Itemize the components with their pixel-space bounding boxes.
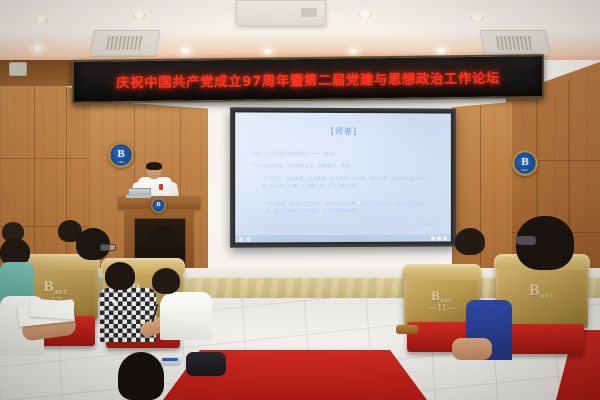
projection-screen: 【师者】 “师者，所以传道授业解惑也。” ——《师说》 “为ião基继绝学，为万… bbox=[235, 112, 451, 242]
podium-emblem: B bbox=[151, 198, 166, 213]
chair-logo: BAEC bbox=[44, 279, 69, 296]
wall-speaker-left bbox=[9, 62, 27, 76]
audience-head-bottom bbox=[118, 352, 164, 400]
wall-emblem-left: B bbox=[108, 142, 134, 168]
head bbox=[150, 226, 176, 250]
ceiling-downlight bbox=[32, 45, 43, 52]
chair-logo: BAEC bbox=[529, 282, 555, 300]
vent-grille bbox=[106, 36, 144, 49]
podium-emblem-inner: B bbox=[154, 201, 163, 210]
slide-line-4: “所以师者，乐乎人之之生命，求学易学之习教，光于天下之文书，成人于书同天下之道，… bbox=[266, 201, 432, 214]
conference-hall-photo: B AEC B AEC 庆祝中国共产党成立97周年暨第二届党建与思想政治工作论坛… bbox=[0, 0, 600, 400]
audience-member bbox=[150, 226, 176, 250]
ceiling-downlight bbox=[34, 16, 48, 25]
tray-icon[interactable] bbox=[437, 236, 441, 240]
speaker-badge bbox=[159, 184, 163, 190]
ceiling-projector bbox=[236, 0, 326, 26]
wall-emblem-right-sub: AEC bbox=[512, 168, 538, 172]
chair-logo-letter: B bbox=[529, 282, 540, 299]
podium-emblem-letter: B bbox=[156, 202, 160, 208]
wall-emblem-left-sub: AEC bbox=[108, 160, 134, 164]
vent-grille bbox=[496, 36, 534, 49]
backpack[interactable] bbox=[186, 352, 226, 376]
taskbar-icon[interactable] bbox=[239, 237, 243, 241]
eyeglasses-icon bbox=[100, 244, 116, 251]
ceiling-downlight bbox=[358, 10, 372, 19]
projector-lens bbox=[301, 8, 317, 17]
audience-member bbox=[455, 228, 485, 255]
ceiling-downlight bbox=[132, 11, 146, 20]
sneaker-stripe bbox=[162, 358, 178, 361]
chair-headrest-cover bbox=[402, 264, 482, 280]
chair-logo: BAEC bbox=[431, 288, 453, 304]
speaker-hair bbox=[146, 162, 162, 170]
led-banner-text: 庆祝中国共产党成立97周年暨第二届党建与思想政治工作论坛 bbox=[116, 67, 500, 92]
slide-attribution: ——《师说》 bbox=[412, 222, 437, 228]
slide-line-1: “师者，所以传道授业解惑也。” ——《师说》 bbox=[249, 151, 439, 158]
audience-head-dark bbox=[105, 262, 135, 290]
chair-logo-letter: B bbox=[44, 279, 54, 295]
chair-seat-cushion bbox=[500, 324, 585, 354]
slide-title: 【师者】 bbox=[235, 126, 451, 138]
eyeglasses-icon bbox=[516, 236, 536, 245]
head bbox=[455, 228, 485, 255]
chair-logo-sub: AEC bbox=[539, 293, 555, 300]
chair-armrest bbox=[396, 325, 418, 334]
chair-number: —11— bbox=[427, 303, 457, 314]
audience-head bbox=[152, 268, 180, 294]
laptop-base bbox=[126, 195, 151, 198]
led-banner: 庆祝中国共产党成立97周年暨第二届党建与思想政治工作论坛 bbox=[72, 54, 544, 104]
emblem-left-letter: B bbox=[117, 149, 124, 160]
taskbar-tray[interactable] bbox=[431, 236, 447, 240]
projection-screen-frame: 【师者】 “师者，所以传道授业解惑也。” ——《师说》 “为ião基继绝学，为万… bbox=[230, 107, 456, 247]
slide-taskbar[interactable] bbox=[235, 234, 451, 242]
tray-icon[interactable] bbox=[431, 236, 435, 240]
slide-line-3: “天下将亡，匹夫有责，匹夫匪责，在于为学；为学者，各须为师，则治师为道人师传道，… bbox=[262, 176, 434, 189]
podium-laptop[interactable] bbox=[126, 188, 151, 198]
wall-emblem-right: B bbox=[512, 150, 538, 176]
audience-leg bbox=[452, 338, 492, 360]
ceiling-downlight bbox=[470, 14, 484, 23]
taskbar-icon[interactable] bbox=[246, 237, 250, 241]
chair-logo-letter: B bbox=[431, 288, 440, 303]
panel-seam bbox=[0, 158, 92, 159]
tray-icon[interactable] bbox=[443, 236, 447, 240]
audience-white-shirt bbox=[160, 292, 212, 340]
handout-papers[interactable] bbox=[29, 298, 74, 319]
slide-line-2: “为ião基继绝学，为万世开太平，我辈教师，师也。” bbox=[251, 163, 441, 170]
emblem-right-letter: B bbox=[521, 157, 528, 168]
